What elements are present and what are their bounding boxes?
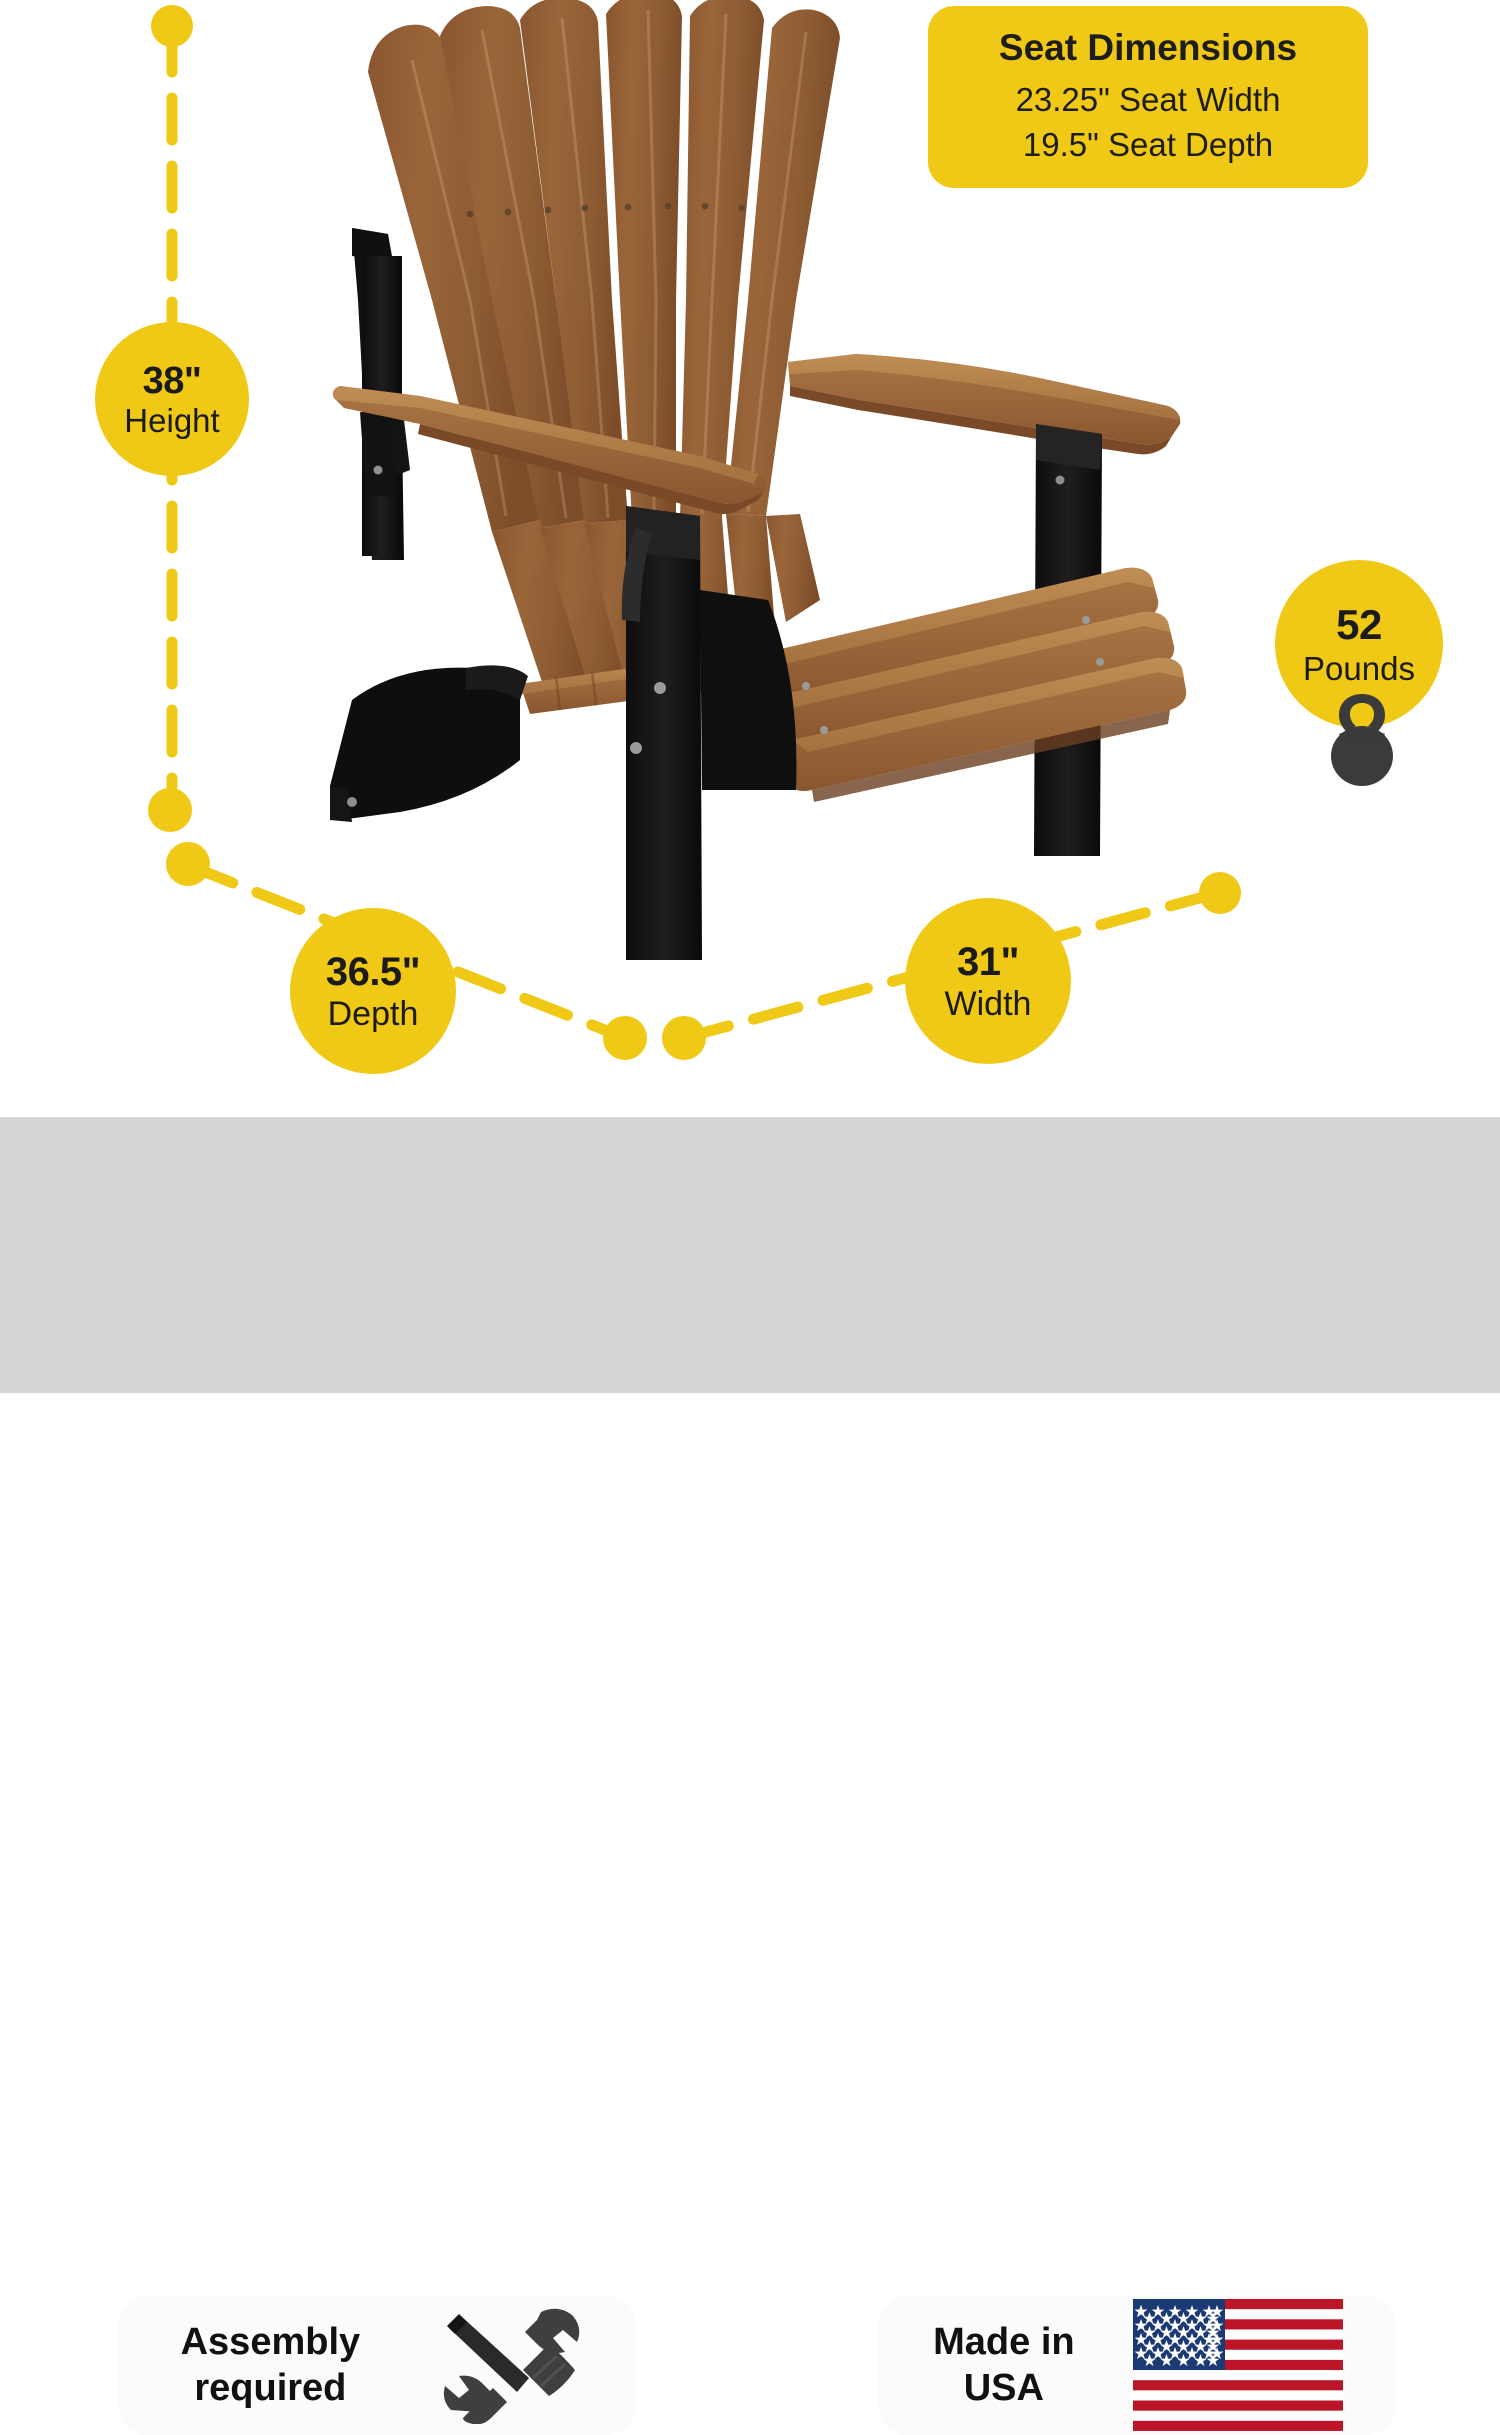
footer-band: Assembly required [0, 1117, 1500, 1393]
seat-width-text: 23.25" Seat Width [1016, 78, 1281, 123]
height-callout: 38" Height [95, 322, 249, 476]
weight-label: Pounds [1303, 652, 1415, 685]
seat-dimensions-badge: Seat Dimensions 23.25" Seat Width 19.5" … [928, 6, 1368, 188]
infographic-stage: 38" Height 36.5" Depth 31" Width 52 Poun… [0, 0, 1500, 1393]
made-in-usa-text: Made in USA [933, 2319, 1074, 2412]
height-line-top-dot [151, 5, 193, 47]
width-callout: 31" Width [905, 898, 1071, 1064]
width-value: 31" [957, 942, 1019, 982]
wrench-screwdriver-icon [433, 2306, 583, 2424]
usa-line-1: Made in [933, 2319, 1074, 2365]
depth-value: 36.5" [326, 952, 420, 992]
depth-line-right-dot [603, 1016, 647, 1060]
depth-callout: 36.5" Depth [290, 908, 456, 1074]
height-value: 38" [143, 362, 202, 400]
assembly-line-2: required [181, 2365, 361, 2411]
width-line-left-dot [662, 1016, 706, 1060]
depth-line-left-dot [166, 842, 210, 886]
made-in-usa-badge: Made in USA [878, 2295, 1396, 2435]
assembly-line-1: Assembly [181, 2319, 361, 2365]
usa-line-2: USA [933, 2365, 1074, 2411]
width-line-right-dot [1199, 872, 1241, 914]
seat-depth-text: 19.5" Seat Depth [1023, 123, 1273, 168]
usa-flag-icon [1133, 2299, 1343, 2431]
height-label: Height [124, 404, 219, 437]
assembly-required-text: Assembly required [181, 2319, 361, 2412]
height-line-bottom-dot [148, 788, 192, 832]
assembly-required-badge: Assembly required [118, 2295, 636, 2435]
kettlebell-icon [1323, 690, 1401, 790]
weight-value: 52 [1336, 604, 1382, 646]
seat-dimensions-title: Seat Dimensions [999, 27, 1297, 69]
width-label: Width [945, 987, 1032, 1021]
product-hero-area: 38" Height 36.5" Depth 31" Width 52 Poun… [0, 0, 1500, 1117]
depth-label: Depth [328, 997, 419, 1031]
